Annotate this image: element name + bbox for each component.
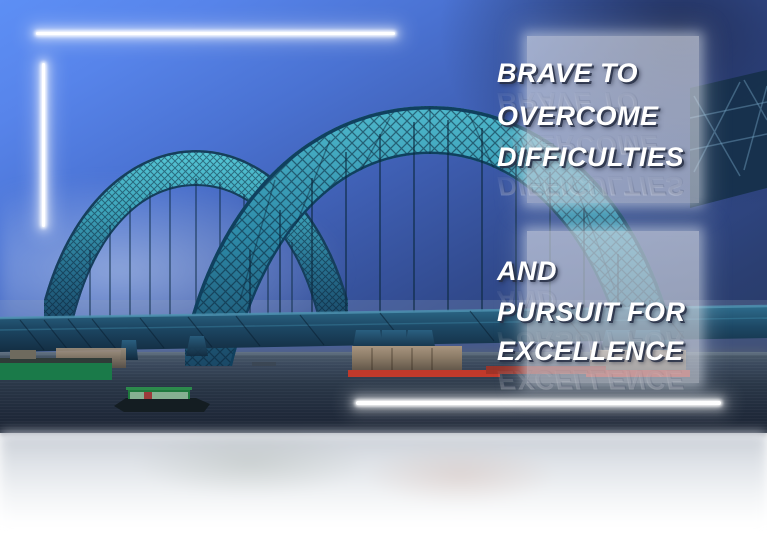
headline-2-line-1: AND bbox=[497, 258, 557, 285]
headline-2-line-3: EXCELLENCE bbox=[497, 338, 684, 365]
headline-2-line-2: PURSUIT FOR bbox=[497, 299, 686, 326]
bridge-span-right bbox=[690, 70, 767, 208]
slide-stage: BRAVE TO BRAVE TO OVERCOME OVERCOME DIFF… bbox=[0, 0, 767, 539]
headline-1-line-1: BRAVE TO bbox=[497, 60, 638, 87]
distant-boat bbox=[252, 362, 276, 366]
headline-2-line-3-reflection: EXCELLENCE bbox=[497, 366, 684, 393]
small-boat bbox=[114, 387, 210, 412]
bottom-white-fade bbox=[0, 433, 767, 539]
background-photo: BRAVE TO BRAVE TO OVERCOME OVERCOME DIFF… bbox=[0, 0, 767, 433]
decor-line-left-vertical bbox=[42, 63, 45, 227]
decor-line-bottom-horizontal bbox=[356, 401, 721, 405]
decor-line-top-horizontal bbox=[36, 32, 395, 35]
headline-1-line-3-reflection: DIFFICULTIES bbox=[497, 172, 684, 199]
headline-1-line-3: DIFFICULTIES bbox=[497, 144, 684, 171]
headline-1-line-2: OVERCOME bbox=[497, 103, 659, 130]
